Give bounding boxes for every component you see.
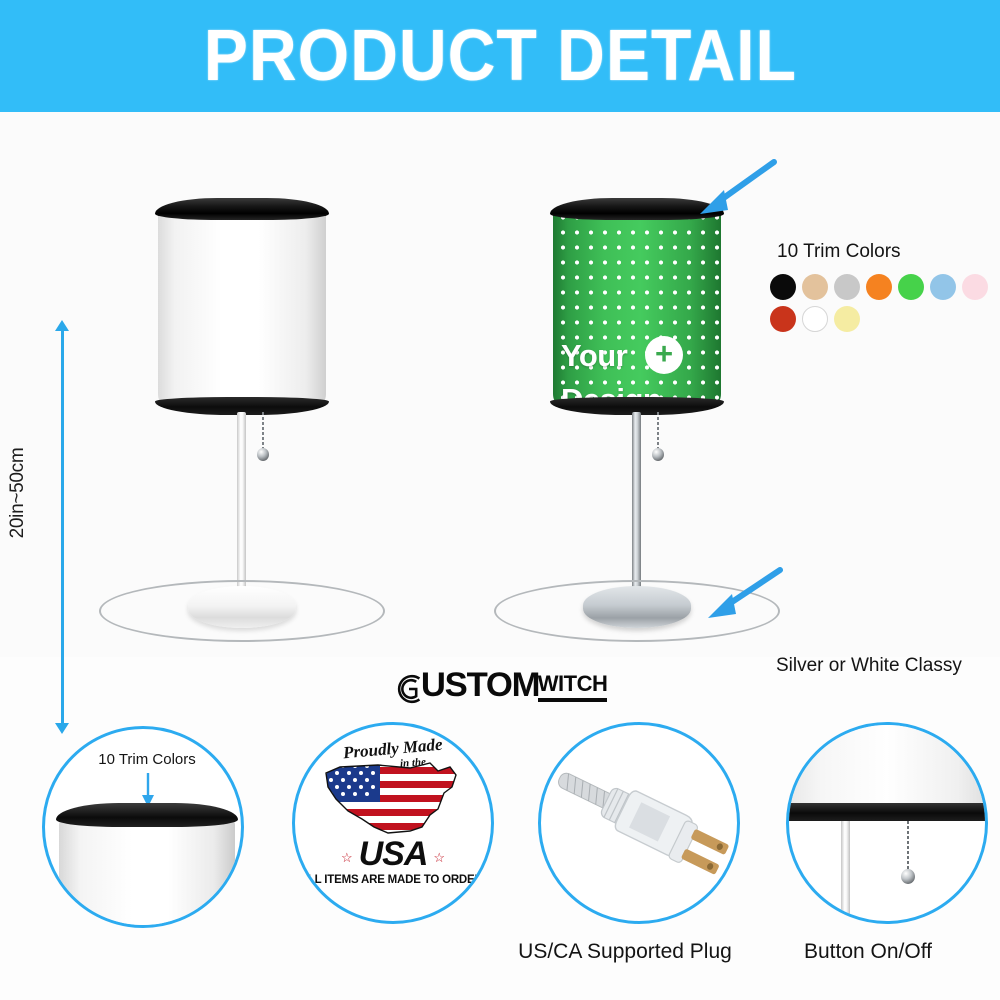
base-finish-callout-arrow	[700, 560, 786, 622]
usa-badge-footer: ALL ITEMS ARE MADE TO ORDER!	[300, 874, 487, 886]
star-icon-right: ☆	[433, 850, 445, 866]
trim-swatch-pink[interactable]	[962, 274, 988, 300]
trim-colors-heading: 10 Trim Colors	[777, 241, 901, 263]
feature-trim-colors: 10 Trim Colors	[42, 726, 244, 928]
lamp-shade-green: Your + Design	[553, 198, 721, 414]
trim-callout-arrow	[694, 158, 780, 220]
feature-caption-button: Button On/Off	[738, 940, 998, 964]
lamp-green-custom: Your + Design	[553, 198, 721, 638]
star-icon-left: ☆	[341, 850, 353, 866]
plus-icon: +	[645, 336, 683, 374]
pull-chain-ball	[257, 448, 269, 461]
feature-shade-closeup	[59, 803, 235, 928]
page-title: PRODUCT DETAIL	[203, 15, 796, 97]
shade-trim-top	[56, 803, 238, 827]
pull-chain	[657, 412, 659, 450]
shade-surface: Your + Design	[553, 206, 721, 404]
lamp-base-white	[188, 586, 296, 628]
height-dimension-label: 20in~50cm	[7, 413, 29, 573]
trim-swatch-yellow[interactable]	[834, 306, 860, 332]
pull-chain-ball	[652, 448, 664, 461]
feature-caption-plug: US/CA Supported Plug	[495, 940, 755, 964]
usa-badge-line2: in the	[400, 756, 427, 770]
trim-color-swatches	[770, 274, 1000, 332]
feature-made-in-usa: Proudly Made in the	[292, 722, 494, 924]
shade-trim-bottom	[786, 803, 988, 821]
pull-chain	[907, 821, 909, 871]
design-text-line1: Your	[561, 338, 627, 373]
brand-name-sub: WITCH	[538, 671, 608, 702]
trim-swatch-white[interactable]	[802, 306, 828, 332]
trim-swatch-black[interactable]	[770, 274, 796, 300]
lamp-shade-white	[158, 198, 326, 414]
trim-swatch-light-blue[interactable]	[930, 274, 956, 300]
shade-surface	[59, 817, 235, 928]
power-plug-icon	[541, 725, 740, 924]
lamp-white	[158, 198, 326, 638]
product-detail-page: PRODUCT DETAIL 7in~18cm 20in~50cm	[0, 0, 1000, 1000]
lamp-pole-white	[237, 412, 246, 602]
hero-section: 7in~18cm 20in~50cm	[0, 112, 1000, 657]
lamp-pole-silver	[632, 412, 641, 602]
feature-button-onoff	[786, 722, 988, 924]
shade-trim-top	[155, 198, 329, 220]
custom-c-mark-icon	[393, 673, 425, 705]
shade-surface	[786, 722, 988, 803]
lamp-base-silver	[583, 586, 691, 628]
trim-swatch-orange[interactable]	[866, 274, 892, 300]
trim-swatch-gray[interactable]	[834, 274, 860, 300]
pull-chain-ball	[901, 869, 915, 884]
feature-plug	[538, 722, 740, 924]
pull-chain	[262, 412, 264, 450]
trim-swatch-green[interactable]	[898, 274, 924, 300]
trim-swatch-red[interactable]	[770, 306, 796, 332]
shade-surface	[158, 206, 326, 404]
lamp-pole	[841, 821, 850, 924]
feature-trim-colors-label: 10 Trim Colors	[67, 751, 227, 768]
usa-badge-title: USA	[359, 835, 428, 874]
header-banner: PRODUCT DETAIL	[0, 0, 1000, 112]
brand-logo: USTOM WITCH	[0, 662, 1000, 708]
brand-name-main: USTOM	[420, 666, 538, 705]
usa-map-flag-icon	[318, 753, 468, 841]
trim-swatch-tan[interactable]	[802, 274, 828, 300]
